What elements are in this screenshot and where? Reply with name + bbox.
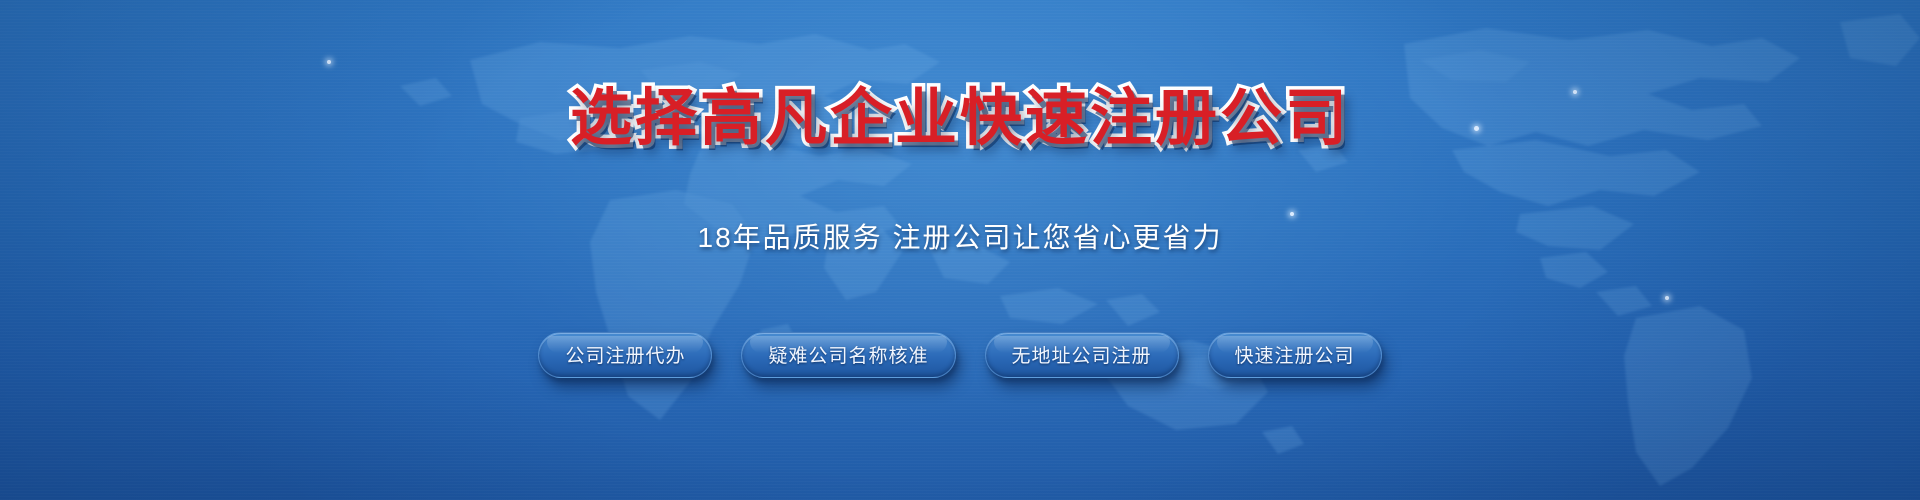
tag-button-company-registration-agency[interactable]: 公司注册代办 <box>538 332 712 378</box>
banner-subtitle: 18年品质服务 注册公司让您省心更省力 <box>698 224 1223 252</box>
tag-button-label: 无地址公司注册 <box>1012 341 1152 368</box>
banner-content: 选择高凡企业快速注册公司 18年品质服务 注册公司让您省心更省力 公司注册代办 … <box>0 0 1920 500</box>
banner-headline: 选择高凡企业快速注册公司 <box>570 88 1350 150</box>
tag-button-fast-registration[interactable]: 快速注册公司 <box>1208 332 1382 378</box>
tag-button-label: 疑难公司名称核准 <box>768 341 928 368</box>
hero-banner: 选择高凡企业快速注册公司 18年品质服务 注册公司让您省心更省力 公司注册代办 … <box>0 0 1920 500</box>
service-tag-bar: 公司注册代办 疑难公司名称核准 无地址公司注册 快速注册公司 <box>538 332 1381 378</box>
tag-button-label: 快速注册公司 <box>1235 341 1355 368</box>
tag-button-difficult-name-approval[interactable]: 疑难公司名称核准 <box>741 332 955 378</box>
tag-button-no-address-registration[interactable]: 无地址公司注册 <box>985 332 1179 378</box>
tag-button-label: 公司注册代办 <box>565 341 685 368</box>
